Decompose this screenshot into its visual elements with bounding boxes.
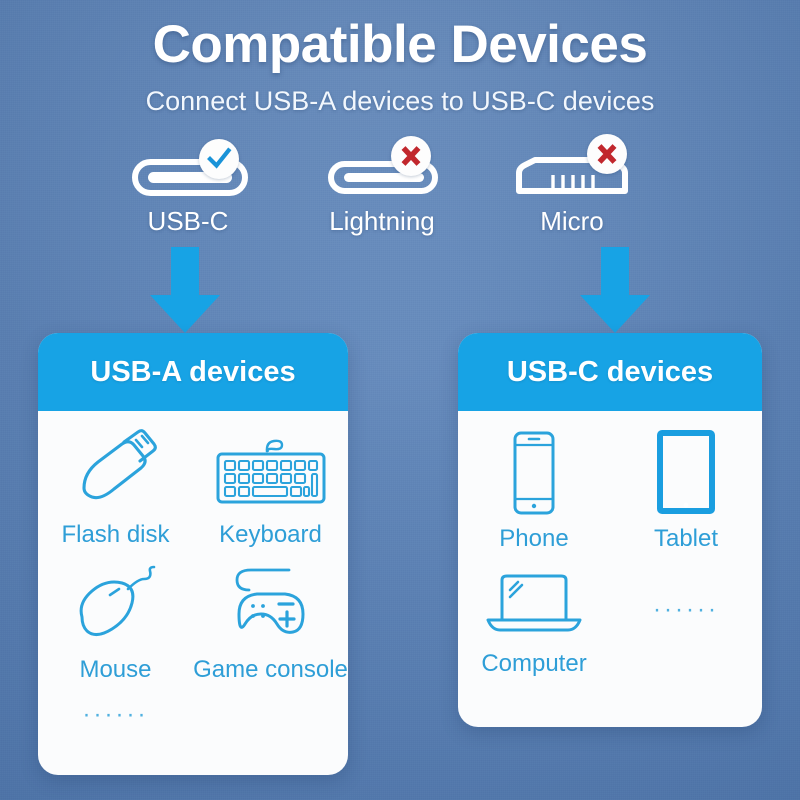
device-item-game-console[interactable]: Game console [193,560,348,695]
micro-usb-connector-art [477,142,667,204]
device-item-keyboard[interactable]: Keyboard [193,425,348,560]
card-body-usb-a: Flash disk [38,411,348,735]
red-cross-badge-icon [391,136,431,176]
device-label-computer: Computer [481,650,586,678]
card-usb-c-devices: USB-C devices [458,333,762,727]
device-label-tablet: Tablet [654,525,718,553]
card-body-usb-c: Phone Tablet [458,411,762,685]
connector-label-micro: Micro [477,206,667,237]
gamepad-icon [217,560,325,652]
arrow-down-left [148,247,222,338]
device-label-phone: Phone [499,525,568,553]
connector-lightning: Lightning [287,142,477,237]
lightning-connector-icon [287,142,477,204]
device-label-mouse: Mouse [79,656,151,684]
device-item-tablet[interactable]: Tablet [610,425,762,560]
device-item-mouse[interactable]: Mouse [38,560,193,695]
device-item-flash-disk[interactable]: Flash disk [38,425,193,560]
lightning-connector-art [287,142,477,204]
mouse-icon [70,560,162,652]
connector-label-lightning: Lightning [287,206,477,237]
card-header-usb-a: USB-A devices [38,333,348,411]
connector-micro: Micro [477,142,667,237]
ellipsis-dots: ······ [83,703,149,727]
device-grid-usb-c: Phone Tablet [458,425,762,685]
device-label-flash-disk: Flash disk [61,521,169,549]
blue-check-badge-icon [199,139,239,179]
infographic-canvas: Compatible Devices Connect USB-A devices… [0,0,800,800]
device-item-phone[interactable]: Phone [458,425,610,560]
connector-compatibility-row: USB-C Lightning [0,142,800,242]
more-devices-usb-a: ······ [38,695,193,735]
card-title-usb-a: USB-A devices [90,356,295,389]
device-label-keyboard: Keyboard [219,521,322,549]
more-devices-usb-c: ······ [610,560,762,685]
usb-c-connector-art [93,142,283,204]
connector-label-usb-c: USB-C [93,206,283,237]
card-title-usb-c: USB-C devices [507,356,713,389]
flash-drive-icon [74,425,158,517]
connector-usb-c: USB-C [93,142,283,237]
device-item-computer[interactable]: Computer [458,560,610,685]
page-title: Compatible Devices [0,14,800,75]
usb-c-connector-icon [93,142,283,204]
card-header-usb-c: USB-C devices [458,333,762,411]
device-grid-usb-a: Flash disk [38,425,348,735]
arrow-down-icon [578,247,652,333]
arrow-down-icon [148,247,222,333]
arrow-down-right [578,247,652,338]
micro-usb-connector-icon [477,142,667,204]
page-subtitle: Connect USB-A devices to USB-C devices [0,86,800,117]
laptop-icon [484,560,584,646]
card-usb-a-devices: USB-A devices Fla [38,333,348,775]
device-label-game-console: Game console [193,656,348,684]
smartphone-icon [506,425,562,521]
keyboard-icon [212,425,330,517]
tablet-icon [653,425,719,521]
ellipsis-dots: ······ [653,598,719,622]
red-cross-badge-icon [587,134,627,174]
